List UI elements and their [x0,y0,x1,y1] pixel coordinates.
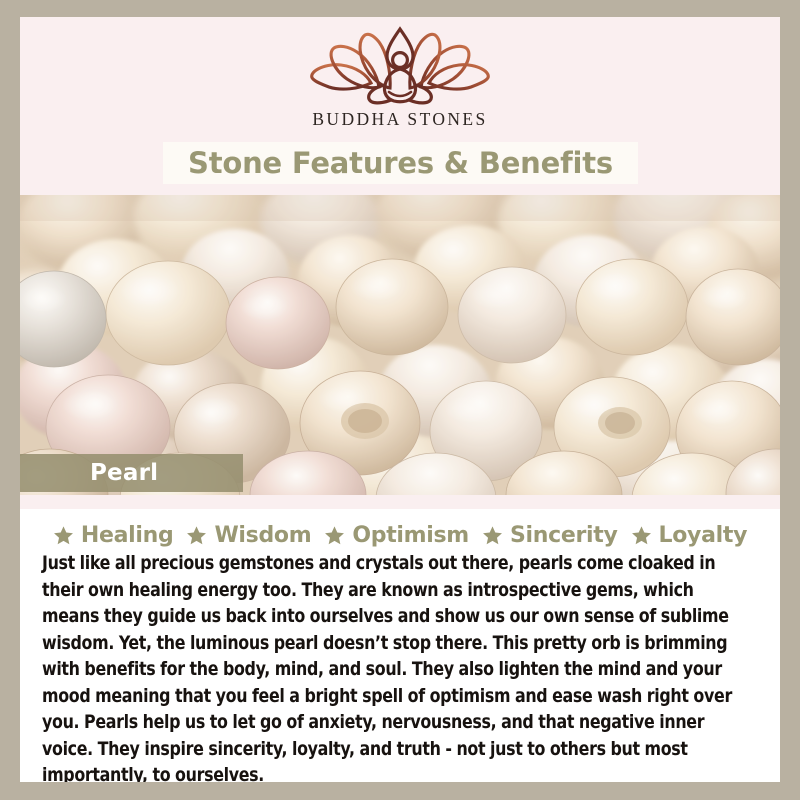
benefit-item-sincerity: Sincerity [482,523,618,548]
benefits-list: Healing Wisdom Optimism [42,523,758,548]
star-icon [482,525,503,546]
brand-header: BUDDHA STONES [20,17,780,142]
benefit-label: Optimism [352,523,469,548]
infographic-root: BUDDHA STONES Stone Features & Benefits [0,0,800,800]
benefit-item-healing: Healing [53,523,174,548]
star-icon [324,525,345,546]
benefit-item-loyalty: Loyalty [631,523,748,548]
page-title: Stone Features & Benefits [188,146,613,180]
pearl-photo-artwork [20,195,780,495]
benefit-item-wisdom: Wisdom [186,523,311,548]
brand-name: BUDDHA STONES [20,109,780,130]
photo-panel-divider [20,495,780,509]
stone-name-band: Pearl [20,454,243,492]
benefit-label: Sincerity [510,523,618,548]
title-banner: Stone Features & Benefits [163,142,638,184]
benefit-label: Healing [81,523,174,548]
card-surface: BUDDHA STONES Stone Features & Benefits [20,17,780,782]
brand-logo: BUDDHA STONES [20,23,780,130]
benefit-label: Wisdom [214,523,311,548]
content-panel: Healing Wisdom Optimism [20,509,780,782]
stone-name: Pearl [20,460,158,486]
star-icon [631,525,652,546]
benefit-item-optimism: Optimism [324,523,469,548]
pearl-gemstones-photo [20,195,780,495]
stone-description: Just like all precious gemstones and cry… [42,551,733,782]
star-icon [186,525,207,546]
star-icon [53,525,74,546]
lotus-meditation-figure-icon [305,23,495,107]
benefit-label: Loyalty [659,523,748,548]
